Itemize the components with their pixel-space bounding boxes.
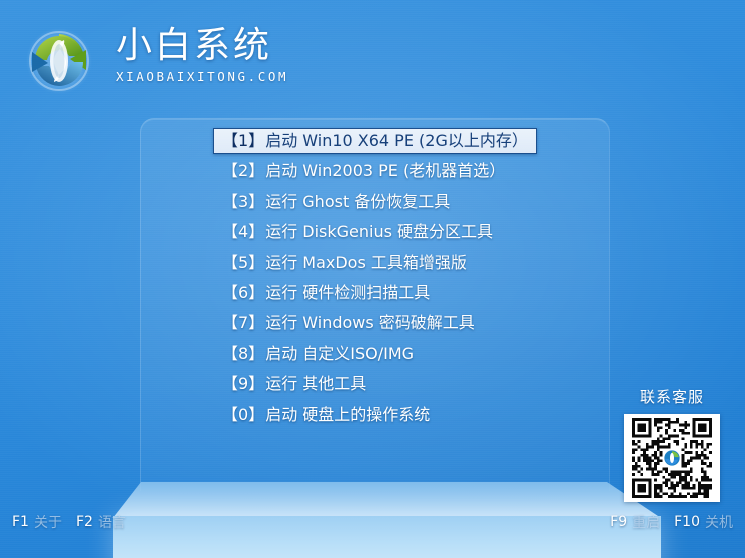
refresh-circle-logo-icon	[24, 26, 94, 96]
boot-menu-item-index: 【4】	[222, 219, 264, 245]
boot-menu-item-label: 运行 Ghost 备份恢复工具	[265, 189, 450, 215]
boot-menu-item-2[interactable]: 【2】启动 Win2003 PE (老机器首选）	[213, 158, 514, 184]
boot-menu-item-index: 【3】	[222, 189, 264, 215]
qr-code[interactable]	[624, 414, 720, 502]
boot-menu-item-label: 运行 DiskGenius 硬盘分区工具	[265, 219, 493, 245]
boot-menu-item-index: 【6】	[222, 280, 264, 306]
hint-key: F1	[12, 514, 29, 530]
brand-logo-icon	[663, 449, 682, 468]
boot-menu-item-index: 【1】	[222, 128, 264, 154]
boot-menu-item-index: 【7】	[222, 310, 264, 336]
brand-name-cn: 小白系统	[116, 26, 288, 66]
boot-menu-item-index: 【0】	[222, 402, 264, 428]
boot-menu-item-label: 启动 Win10 X64 PE (2G以上内存）	[265, 128, 528, 154]
boot-menu-item-4[interactable]: 【4】运行 DiskGenius 硬盘分区工具	[213, 219, 502, 245]
hint-f2[interactable]: F2语言	[76, 512, 126, 532]
boot-menu-item-label: 启动 自定义ISO/IMG	[265, 341, 414, 367]
hint-label: 关于	[34, 512, 62, 532]
hint-label: 关机	[705, 512, 733, 532]
boot-menu-item-index: 【5】	[222, 250, 264, 276]
function-key-hints: F1关于F2语言 F9重启F10关机	[0, 508, 745, 536]
boot-menu-item-label: 运行 MaxDos 工具箱增强版	[265, 250, 467, 276]
boot-menu-item-3[interactable]: 【3】运行 Ghost 备份恢复工具	[213, 189, 459, 215]
hint-key: F10	[674, 514, 700, 530]
qr-center-brand-icon	[664, 450, 681, 467]
boot-menu-item-10[interactable]: 【0】启动 硬盘上的操作系统	[213, 402, 439, 428]
brand-name-en: XIAOBAIXITONG.COM	[116, 69, 288, 84]
contact-support-title: 联系客服	[618, 386, 726, 407]
function-key-hints-right: F9重启F10关机	[610, 512, 733, 532]
hint-key: F9	[610, 514, 627, 530]
pedestal-front-face	[113, 516, 661, 558]
boot-menu-item-7[interactable]: 【7】运行 Windows 密码破解工具	[213, 310, 484, 336]
contact-support: 联系客服	[618, 386, 726, 502]
boot-menu-item-label: 运行 Windows 密码破解工具	[265, 310, 475, 336]
boot-menu-list: 【1】启动 Win10 X64 PE (2G以上内存）【2】启动 Win2003…	[213, 128, 543, 432]
boot-menu-item-label: 启动 Win2003 PE (老机器首选）	[265, 158, 505, 184]
hint-key: F2	[76, 514, 93, 530]
brand-logo: 小白系统 XIAOBAIXITONG.COM	[24, 22, 284, 100]
boot-menu-item-index: 【8】	[222, 341, 264, 367]
boot-menu-item-5[interactable]: 【5】运行 MaxDos 工具箱增强版	[213, 250, 476, 276]
boot-menu-screen: 小白系统 XIAOBAIXITONG.COM 【1】启动 Win10 X64 P…	[0, 0, 745, 558]
function-key-hints-left: F1关于F2语言	[12, 512, 126, 532]
boot-menu-item-label: 运行 硬件检测扫描工具	[265, 280, 430, 306]
hint-f10[interactable]: F10关机	[674, 512, 733, 532]
boot-menu-item-1[interactable]: 【1】启动 Win10 X64 PE (2G以上内存）	[213, 128, 537, 154]
boot-menu-item-index: 【2】	[222, 158, 264, 184]
boot-menu-item-8[interactable]: 【8】启动 自定义ISO/IMG	[213, 341, 423, 367]
hint-f1[interactable]: F1关于	[12, 512, 62, 532]
hint-label: 语言	[98, 512, 126, 532]
hint-label: 重启	[632, 512, 660, 532]
boot-menu-item-index: 【9】	[222, 371, 264, 397]
boot-menu-item-label: 运行 其他工具	[265, 371, 366, 397]
boot-menu-item-label: 启动 硬盘上的操作系统	[265, 402, 430, 428]
boot-menu-item-6[interactable]: 【6】运行 硬件检测扫描工具	[213, 280, 439, 306]
hint-f9[interactable]: F9重启	[610, 512, 660, 532]
boot-menu-item-9[interactable]: 【9】运行 其他工具	[213, 371, 375, 397]
